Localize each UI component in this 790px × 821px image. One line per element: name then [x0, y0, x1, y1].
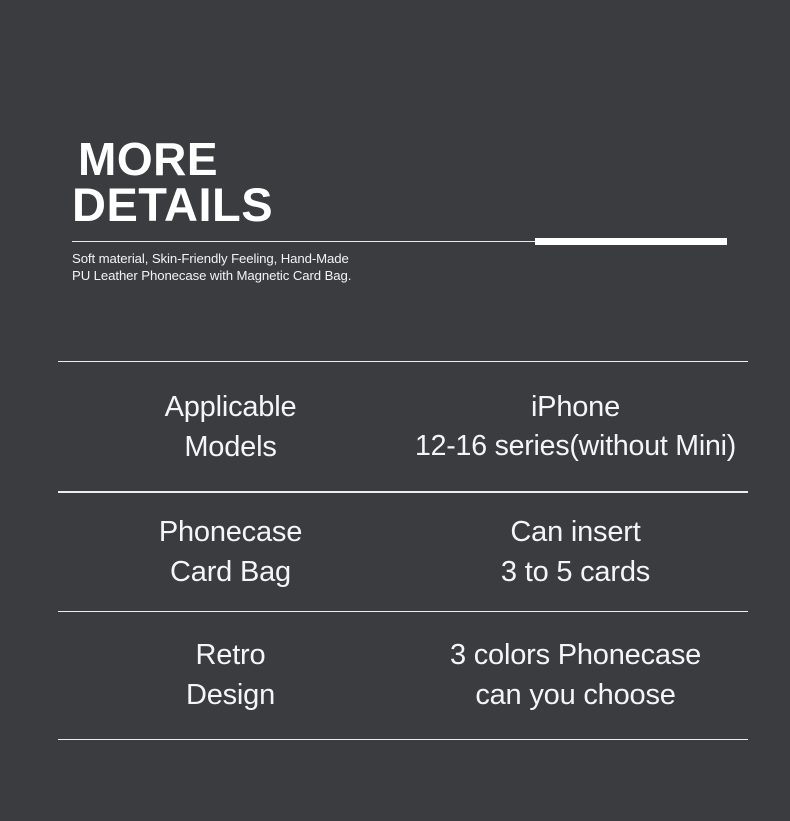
subtitle-line1: Soft material, Skin-Friendly Feeling, Ha… — [72, 251, 592, 268]
spec-value-cell: iPhone 12-16 series(without Mini) — [403, 387, 748, 466]
spec-value-cell: 3 colors Phonecase can you choose — [403, 635, 748, 715]
spec-value-line1: iPhone — [403, 387, 748, 427]
spec-value-line2: can you choose — [403, 675, 748, 715]
spec-label-cell: Applicable Models — [58, 387, 403, 467]
spec-label-line2: Design — [58, 675, 403, 715]
spec-value-line1: Can insert — [403, 512, 748, 552]
page-title-line2: DETAILS — [72, 183, 732, 227]
page-title-line1: MORE — [78, 138, 732, 181]
spec-value-line2: 12-16 series(without Mini) — [403, 427, 748, 466]
spec-label-line1: Retro — [58, 635, 403, 675]
spec-table: Applicable Models iPhone 12-16 series(wi… — [58, 361, 748, 740]
product-detail-banner: MORE DETAILS Soft material, Skin-Friendl… — [0, 0, 790, 821]
spec-label-line2: Models — [58, 427, 403, 467]
subtitle-line2: PU Leather Phonecase with Magnetic Card … — [72, 268, 592, 285]
title-rule — [72, 238, 727, 246]
spec-label-line1: Applicable — [58, 387, 403, 427]
subtitle: Soft material, Skin-Friendly Feeling, Ha… — [72, 251, 592, 285]
spec-label-line1: Phonecase — [58, 512, 403, 552]
spec-divider-bottom — [58, 739, 748, 740]
title-rule-accent-bar — [535, 238, 727, 245]
header-block: MORE DETAILS — [72, 138, 732, 226]
spec-label-cell: Retro Design — [58, 635, 403, 715]
spec-label-cell: Phonecase Card Bag — [58, 512, 403, 592]
spec-value-cell: Can insert 3 to 5 cards — [403, 512, 748, 592]
spec-label-line2: Card Bag — [58, 552, 403, 592]
spec-value-line1: 3 colors Phonecase — [403, 635, 748, 675]
spec-value-line2: 3 to 5 cards — [403, 552, 748, 592]
table-row: Phonecase Card Bag Can insert 3 to 5 car… — [58, 493, 748, 611]
table-row: Applicable Models iPhone 12-16 series(wi… — [58, 362, 748, 491]
table-row: Retro Design 3 colors Phonecase can you … — [58, 612, 748, 739]
